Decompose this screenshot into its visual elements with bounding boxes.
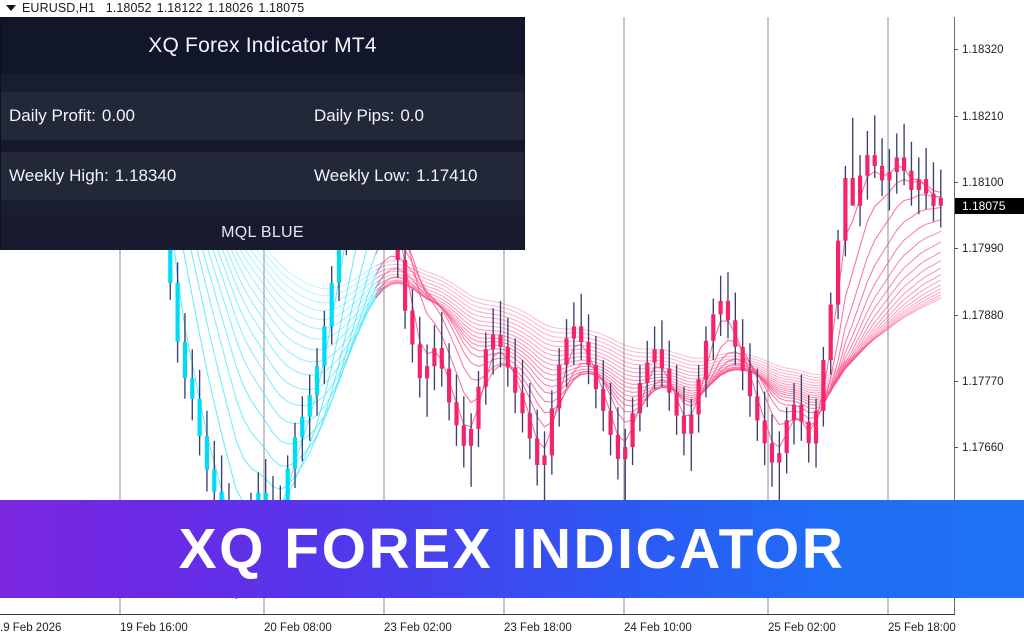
price-tick-mark <box>954 447 958 448</box>
candle-body <box>843 178 847 241</box>
candle-body <box>564 338 568 365</box>
candle-body <box>689 414 693 433</box>
panel-spacer-b <box>1 140 524 152</box>
candle-body <box>190 378 194 399</box>
candle-body <box>653 349 657 362</box>
ohlc-low: 1.18026 <box>208 1 254 15</box>
candle-body <box>895 158 899 173</box>
candle-body <box>807 422 811 444</box>
panel-stats-row-1: Daily Profit: 0.00 Daily Pips: 0.0 <box>1 92 524 140</box>
candle-body <box>851 178 855 206</box>
price-tick-mark <box>954 116 958 117</box>
candle-body <box>484 349 488 386</box>
price-tick-label: 1.17990 <box>962 242 1004 256</box>
candle-body <box>777 453 781 463</box>
candle-body <box>308 395 312 417</box>
candle-body <box>403 260 407 311</box>
candle-body <box>425 366 429 378</box>
promo-banner-text: XQ FOREX INDICATOR <box>0 500 1024 598</box>
weekly-high-label: Weekly High: <box>9 166 109 186</box>
candle-body <box>697 379 701 414</box>
time-tick-label: 19 Feb 16:00 <box>120 621 188 635</box>
mt4-chart-window: EURUSD,H1 1.180521.181221.180261.18075 1… <box>0 0 1024 640</box>
candle-body <box>858 176 862 206</box>
candle-body <box>506 347 510 368</box>
candle-body <box>542 455 546 465</box>
ma-ribbon-line <box>376 268 941 396</box>
candle-body <box>528 413 532 438</box>
indicator-dashboard-panel[interactable]: XQ Forex Indicator MT4 Daily Profit: 0.0… <box>0 17 525 250</box>
candle-body <box>704 341 708 380</box>
candle-body <box>660 349 664 368</box>
time-tick-label: 25 Feb 02:00 <box>768 621 836 635</box>
price-tick-mark <box>954 49 958 50</box>
candle-body <box>315 366 319 395</box>
weekly-low-stat: Weekly Low: 1.17410 <box>314 152 478 200</box>
candle-body <box>939 198 943 206</box>
daily-profit-value: 0.00 <box>102 106 135 126</box>
candle-body <box>821 360 825 411</box>
candle-body <box>300 417 304 438</box>
price-tick: 1.18210 <box>954 110 1024 124</box>
panel-stats-row-2: Weekly High: 1.18340 Weekly Low: 1.17410 <box>1 152 524 200</box>
candle-body <box>330 283 334 326</box>
ohlc-high: 1.18122 <box>157 1 203 15</box>
candle-body <box>176 283 180 342</box>
candle-body <box>623 447 627 459</box>
candle-body <box>880 166 884 181</box>
promo-banner: XQ FOREX INDICATOR <box>0 500 1024 598</box>
weekly-low-label: Weekly Low: <box>314 166 410 186</box>
candle-body <box>293 437 297 468</box>
candle-body <box>799 405 803 422</box>
price-tick: 1.18320 <box>954 43 1024 57</box>
daily-pips-stat: Daily Pips: 0.0 <box>314 92 424 140</box>
candle-body <box>829 305 833 361</box>
current-price-badge: 1.18075 <box>955 198 1024 214</box>
candle-body <box>454 402 458 425</box>
candle-body <box>410 311 414 345</box>
candle-body <box>917 179 921 190</box>
candle-body <box>836 241 840 305</box>
candle-body <box>865 155 869 176</box>
candle-body <box>667 369 671 393</box>
candle-body <box>418 344 422 378</box>
time-axis[interactable]: .9 Feb 202619 Feb 16:0020 Feb 08:0023 Fe… <box>0 615 1024 640</box>
candle-body <box>682 416 686 434</box>
candle-body <box>557 365 561 408</box>
price-tick-label: 1.18100 <box>962 176 1004 190</box>
time-tick-label: 23 Feb 18:00 <box>504 621 572 635</box>
weekly-low-value: 1.17410 <box>416 166 477 186</box>
candle-body <box>572 326 576 338</box>
candle-body <box>909 171 913 190</box>
price-tick-label: 1.18210 <box>962 110 1004 124</box>
candle-body <box>924 179 928 194</box>
daily-profit-label: Daily Profit: <box>9 106 96 126</box>
candle-body <box>212 470 216 492</box>
candle-body <box>498 335 502 347</box>
candle-body <box>675 393 679 416</box>
candle-body <box>469 429 473 446</box>
price-tick-label: 1.17770 <box>962 375 1004 389</box>
candle-body <box>535 439 539 466</box>
candle-body <box>183 342 187 378</box>
candle-body <box>873 155 877 166</box>
candle-body <box>601 389 605 411</box>
candle-body <box>733 320 737 347</box>
candle-body <box>594 365 598 389</box>
ma-ribbon-line <box>376 231 941 405</box>
candle-body <box>579 326 583 342</box>
candle-body <box>711 314 715 341</box>
price-tick: 1.17770 <box>954 375 1024 389</box>
ohlc-close: 1.18075 <box>258 1 304 15</box>
candle-body <box>198 399 202 436</box>
panel-footer-row: MQL BLUE <box>1 216 524 250</box>
panel-spacer-c <box>1 200 524 216</box>
candle-body <box>755 396 759 420</box>
candle-body <box>432 348 436 366</box>
candle-body <box>447 369 451 403</box>
candle-body <box>719 301 723 314</box>
candle-body <box>902 158 906 171</box>
time-tick-label: 20 Feb 08:00 <box>264 621 332 635</box>
candle-body <box>792 405 796 421</box>
price-tick-label: 1.18320 <box>962 43 1004 57</box>
candle-body <box>785 420 789 453</box>
time-tick-label: 25 Feb 18:00 <box>888 621 956 635</box>
daily-pips-value: 0.0 <box>400 106 424 126</box>
candle-body <box>520 393 524 414</box>
price-tick-mark <box>954 381 958 382</box>
candle-body <box>616 435 620 459</box>
price-tick: 1.17880 <box>954 309 1024 323</box>
ma-ribbon-line <box>376 242 941 402</box>
candle-body <box>741 347 745 371</box>
candle-body <box>609 411 613 435</box>
candle-body <box>322 326 326 366</box>
candle-body <box>513 367 517 392</box>
daily-pips-label: Daily Pips: <box>314 106 394 126</box>
symbol-timeframe-label: EURUSD,H1 <box>22 1 95 15</box>
current-price-value: 1.18075 <box>962 198 1005 214</box>
ohlc-open: 1.18052 <box>106 1 152 15</box>
candle-body <box>205 436 209 470</box>
price-tick: 1.17660 <box>954 441 1024 455</box>
candle-body <box>814 411 818 444</box>
price-tick-label: 1.17660 <box>962 441 1004 455</box>
candle-body <box>462 425 466 446</box>
candle-body <box>476 387 480 429</box>
candle-body <box>887 172 891 180</box>
candle-body <box>931 194 935 206</box>
time-tick-label: 23 Feb 02:00 <box>384 621 452 635</box>
price-tick-mark <box>954 182 958 183</box>
candle-body <box>645 363 649 384</box>
candle-body <box>726 301 730 320</box>
price-tick: 1.18100 <box>954 176 1024 190</box>
candle-body <box>586 342 590 365</box>
candle-body <box>748 371 752 396</box>
weekly-high-stat: Weekly High: 1.18340 <box>9 152 176 200</box>
candle-body <box>638 383 642 413</box>
daily-profit-stat: Daily Profit: 0.00 <box>9 92 135 140</box>
time-tick-label: 24 Feb 10:00 <box>624 621 692 635</box>
panel-title-row: XQ Forex Indicator MT4 <box>1 18 524 74</box>
panel-spacer-a <box>1 74 524 92</box>
chart-symbol-header: EURUSD,H1 1.180521.181221.180261.18075 <box>0 0 1024 17</box>
time-tick-label: .9 Feb 2026 <box>0 621 61 635</box>
candle-body <box>550 408 554 455</box>
candle-body <box>440 348 444 369</box>
price-tick-label: 1.17880 <box>962 309 1004 323</box>
price-tick-mark <box>954 315 958 316</box>
weekly-high-value: 1.18340 <box>115 166 176 186</box>
candle-body <box>770 443 774 462</box>
triangle-down-icon[interactable] <box>6 5 16 11</box>
candle-body <box>286 469 290 502</box>
panel-footer-brand: MQL BLUE <box>1 216 524 250</box>
ohlc-quote-values: 1.180521.181221.180261.18075 <box>102 1 309 15</box>
panel-title: XQ Forex Indicator MT4 <box>1 18 524 74</box>
candle-body <box>631 413 635 447</box>
price-tick-mark <box>954 248 958 249</box>
candle-body <box>763 420 767 443</box>
candle-body <box>491 335 495 350</box>
price-tick: 1.17990 <box>954 242 1024 256</box>
